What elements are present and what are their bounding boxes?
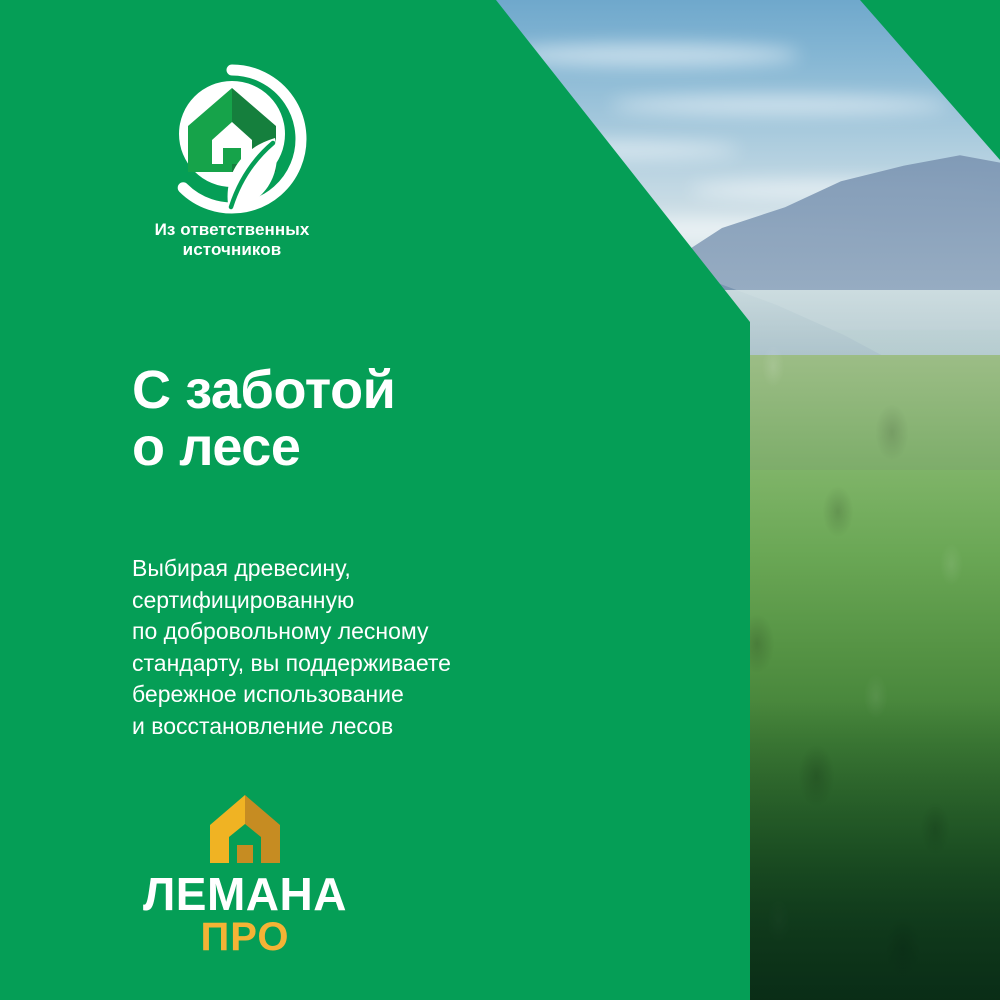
body-copy: Выбирая древесину, сертифицированную по … [132,553,672,742]
lemana-house-icon [206,793,284,865]
brand-logo: ЛЕМАНА ПРО [130,793,360,957]
responsible-sources-icon [157,64,307,214]
promo-banner: Из ответственных источников С заботой о … [0,0,1000,1000]
brand-sub: ПРО [130,917,360,957]
brand-name: ЛЕМАНА [130,873,360,916]
headline: С заботой о лесе [132,362,652,476]
certification-caption: Из ответственных источников [132,220,332,260]
banner-content: Из ответственных источников С заботой о … [0,0,1000,1000]
certification-block: Из ответственных источников [132,64,332,260]
